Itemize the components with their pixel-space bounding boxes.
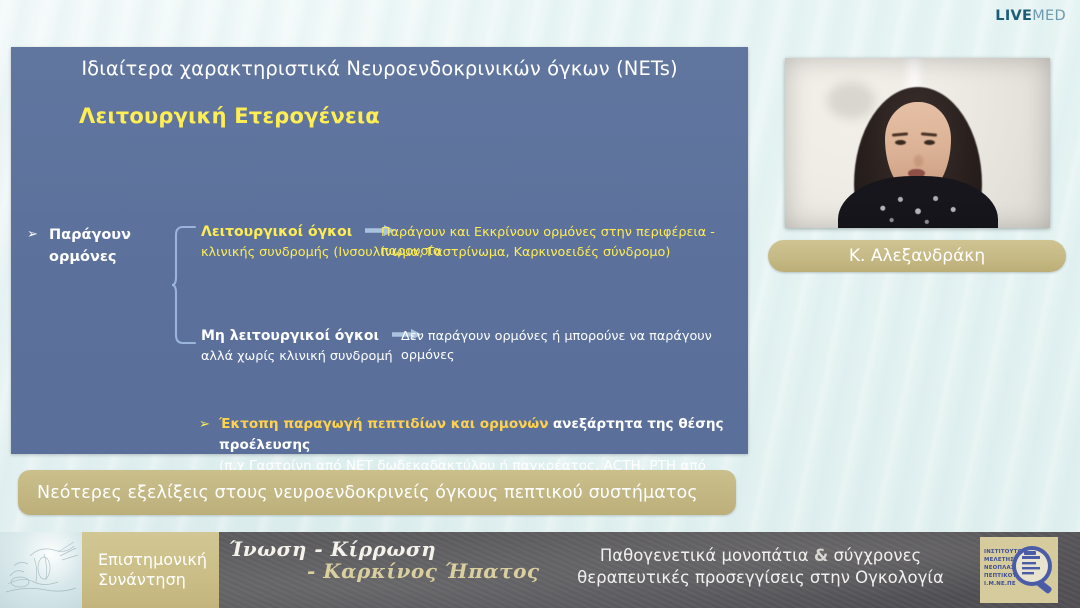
slide-diagram: ➢ Παράγουν ορμόνες Λειτουργικοί όγκοι	[11, 47, 748, 454]
speaker-video-frame	[785, 58, 1050, 228]
footer-theme-line-1-a: Παθογενετικά μονοπάτια	[600, 546, 814, 565]
diagram-branch-functional: Λειτουργικοί όγκοι Παράγουν και Εκκρίνου…	[201, 221, 746, 242]
branch-2-description-cont: αλλά χωρίς κλινική συνδρομή	[201, 349, 746, 364]
presentation-viewer: LIVEMED Ιδιαίτερα χαρακτηριστικά Νευροεν…	[0, 0, 1080, 608]
brand-live-text: LIVE	[995, 8, 1032, 24]
footnote-highlight-gold: Έκτοπη παραγωγή πεπτιδίων και ορμονών	[219, 416, 549, 432]
footer-dark-panel: Ίνωση - Κίρρωση - Καρκίνος Ήπατος Παθογε…	[219, 532, 1080, 608]
branch-1-head: Λειτουργικοί όγκοι	[201, 224, 352, 240]
diagram-root-node: ➢ Παράγουν ορμόνες	[27, 225, 167, 269]
slide-canvas: Ιδιαίτερα χαρακτηριστικά Νευροενδοκρινικ…	[11, 47, 748, 454]
footer-theme-ampersand: &	[814, 546, 828, 565]
branch-2-head: Μη λειτουργικοί όγκοι	[201, 328, 379, 344]
footer-meeting-line-1: Επιστημονική	[98, 550, 219, 570]
footer-theme-line-1: Παθογενετικά μονοπάτια & σύγχρονες	[567, 545, 954, 567]
branch-2-row: Μη λειτουργικοί όγκοι	[201, 325, 430, 344]
footer-script-line-1: Ίνωση - Κίρρωση	[229, 537, 569, 561]
brand-med-text: MED	[1032, 8, 1066, 24]
speaker-video-feed[interactable]	[785, 58, 1050, 228]
diagram-root-label: Παράγουν ορμόνες	[27, 225, 167, 269]
session-title-banner: Νεότερες εξελίξεις στους νευροενδοκρινεί…	[18, 470, 736, 515]
footer-event-theme: Παθογενετικά μονοπάτια & σύγχρονες θεραπ…	[567, 545, 954, 589]
magnifier-icon	[1010, 543, 1056, 597]
speaker-name-text: Κ. Αλεξανδράκη	[849, 246, 985, 266]
video-vignette	[785, 58, 1050, 228]
footer-theme-line-2: θεραπευτικές προσεγγίσεις στην Ογκολογία	[567, 567, 954, 589]
footer-meeting-label: Επιστημονική Συνάντηση	[82, 532, 219, 608]
event-footer-bar: Επιστημονική Συνάντηση Ίνωση - Κίρρωση -…	[0, 532, 1080, 608]
curly-brace-icon	[171, 225, 197, 345]
footer-script-line-2: - Καρκίνος Ήπατος	[307, 559, 569, 583]
footer-meeting-line-2: Συνάντηση	[98, 570, 219, 590]
branch-1-description-cont: κλινικής συνδρομής (Ινσουλίνωμα, Γαστρίν…	[201, 245, 746, 260]
chevron-right-icon: ➢	[27, 225, 38, 245]
speaker-name-plate: Κ. Αλεξανδράκη	[768, 240, 1066, 272]
footer-theme-line-1-b: σύγχρονες	[828, 546, 921, 565]
livemed-logo: LIVEMED	[995, 8, 1066, 24]
session-title-text: Νεότερες εξελίξεις στους νευροενδοκρινεί…	[37, 483, 698, 503]
footer-event-script-title: Ίνωση - Κίρρωση - Καρκίνος Ήπατος	[229, 537, 569, 583]
footnote-line-1: Έκτοπη παραγωγή πεπτιδίων και ορμονών αν…	[199, 414, 744, 456]
branch-1-row: Λειτουργικοί όγκοι	[201, 221, 403, 240]
institute-logo: ΙΝΣΤΙΤΟΥΤΟ ΜΕΛΕΤΗΣ ΝΕΟΠΛΑΣΜΑΤΩΝ ΠΕΠΤΙΚΟΥ…	[980, 537, 1058, 603]
footer-engraving-image	[0, 532, 82, 608]
chevron-right-icon: ➢	[199, 415, 210, 435]
diagram-branch-nonfunctional: Μη λειτουργικοί όγκοι Δεν παράγουν ορμόν…	[201, 325, 746, 346]
